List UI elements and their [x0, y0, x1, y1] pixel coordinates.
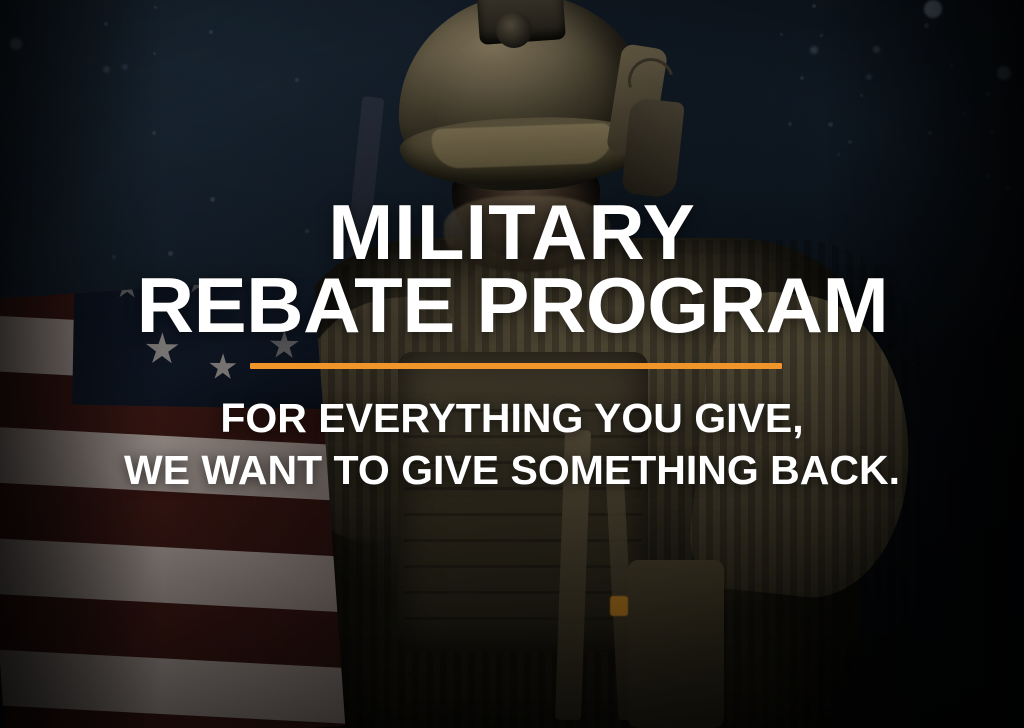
- subheadline-line-1: FOR EVERYTHING YOU GIVE,: [124, 393, 900, 445]
- subheadline-line-2: WE WANT TO GIVE SOMETHING BACK.: [124, 445, 900, 497]
- page-title: MILITARY REBATE PROGRAM: [144, 196, 881, 341]
- banner-content: MILITARY REBATE PROGRAM FOR EVERYTHING Y…: [0, 0, 1024, 728]
- subheadline: FOR EVERYTHING YOU GIVE, WE WANT TO GIVE…: [124, 393, 900, 496]
- headline-line-2: REBATE PROGRAM: [136, 269, 888, 342]
- headline-line-1: MILITARY: [144, 196, 881, 269]
- accent-divider: [250, 363, 782, 369]
- military-rebate-banner: MILITARY REBATE PROGRAM FOR EVERYTHING Y…: [0, 0, 1024, 728]
